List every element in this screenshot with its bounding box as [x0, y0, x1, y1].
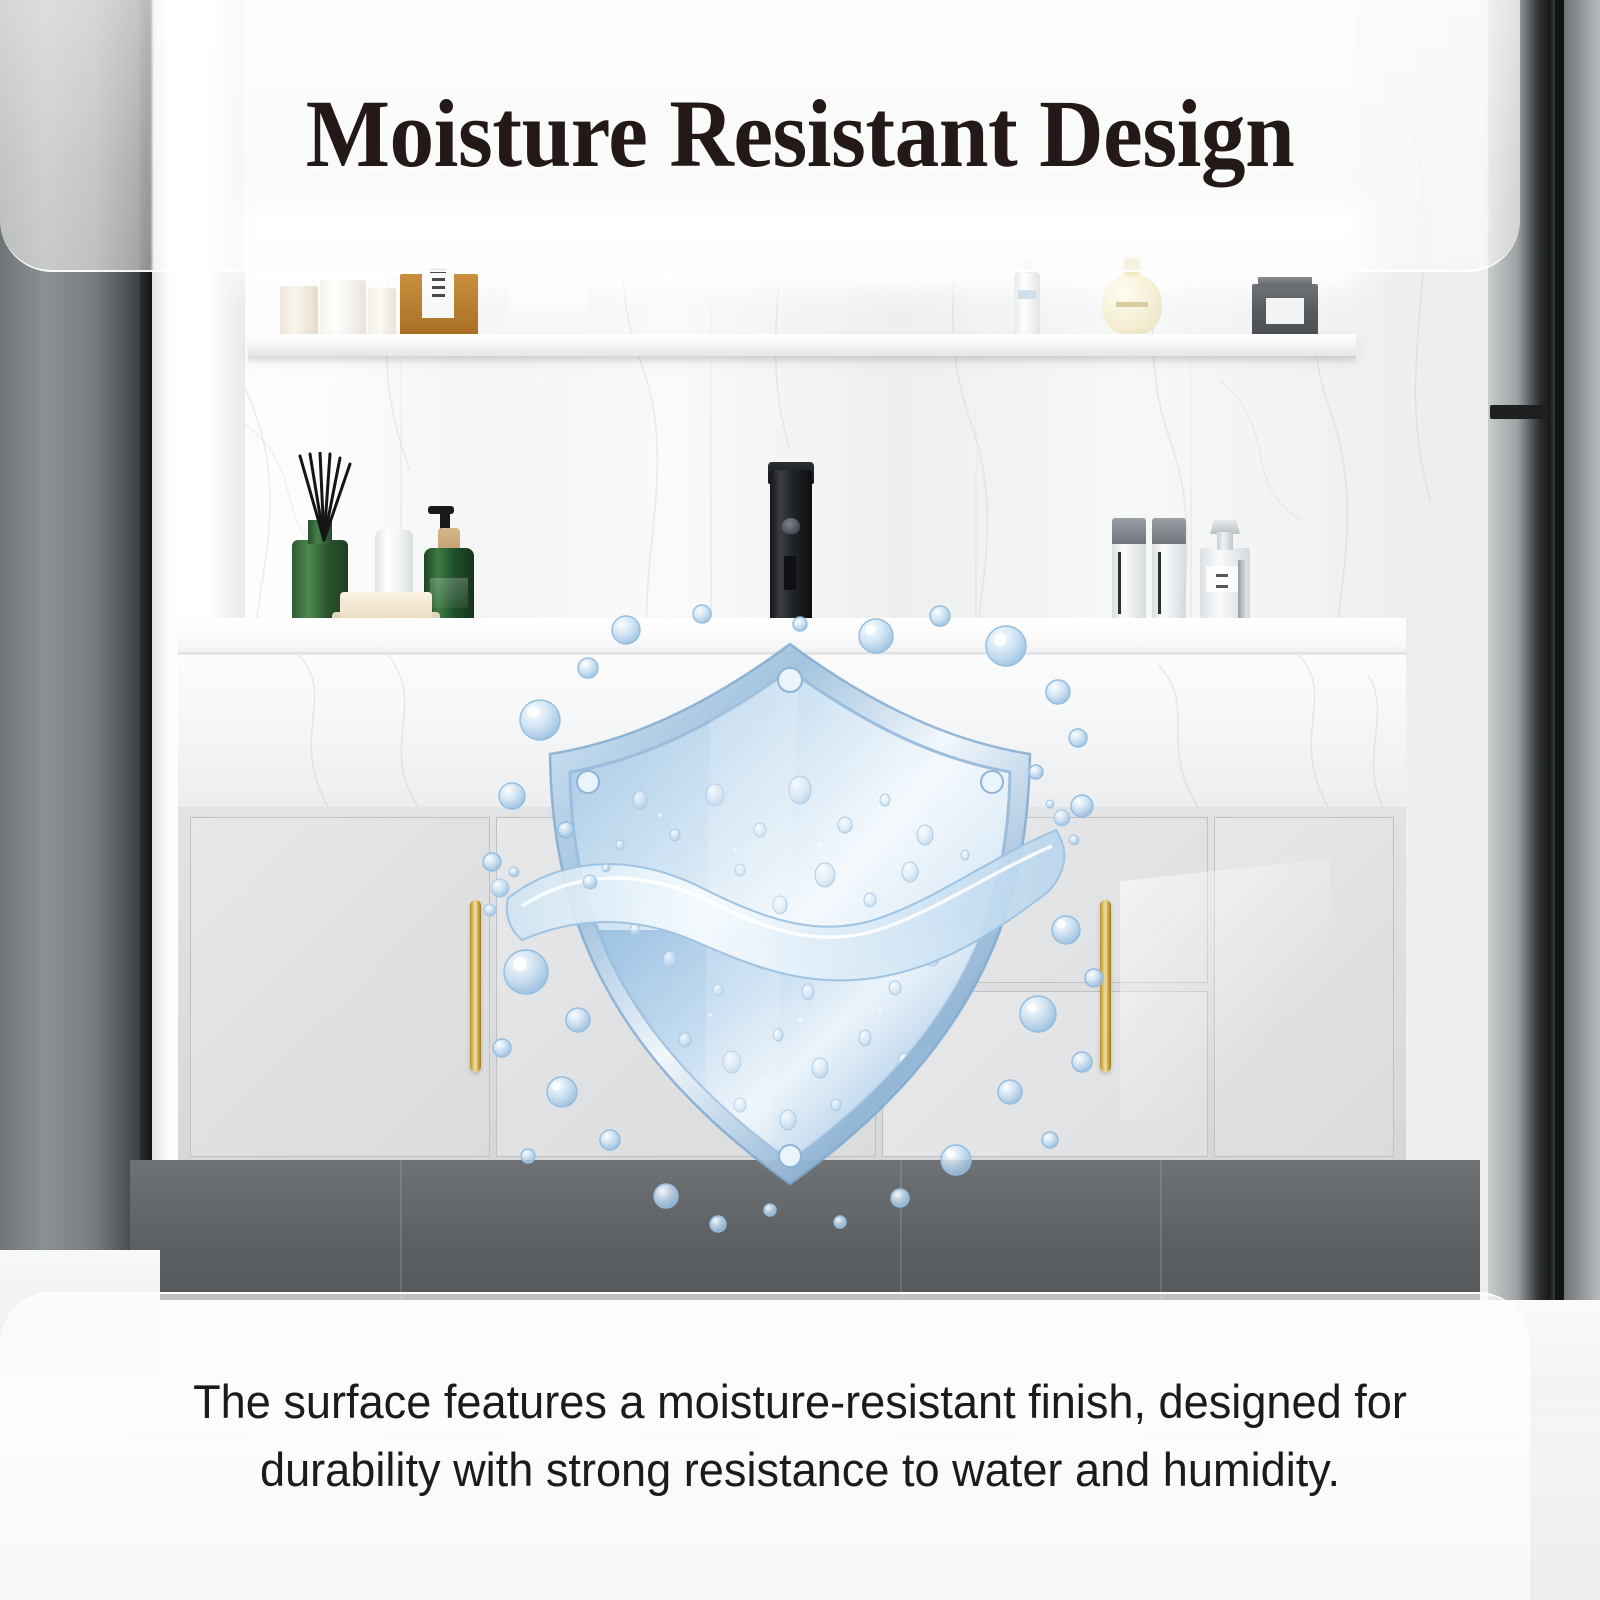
shelf-item-amber-box: [400, 274, 478, 336]
faucet-button: [782, 518, 800, 534]
dispenser-pump: [440, 506, 450, 530]
shelf-item-white-bottle: [1014, 272, 1040, 336]
shelf-items-group: [248, 262, 1356, 336]
page-title: Moisture Resistant Design: [56, 86, 1544, 182]
shelf-item-cream-jar: [368, 288, 396, 336]
dispenser-label: [430, 578, 468, 608]
shelf-shadow: [248, 356, 1356, 364]
shelf-item-round-perfume-bottle: [1102, 274, 1162, 336]
shower-door-handle: [1490, 405, 1548, 419]
shelf-item-grey-box: [1252, 284, 1318, 336]
diffuser-reeds: [286, 452, 366, 542]
shelf-item-white-box: [510, 284, 588, 336]
soap-bar: [340, 592, 432, 618]
glass-tumbler: [1152, 518, 1186, 626]
cabinet-reflection: [1120, 859, 1330, 1121]
cabinet-door-left[interactable]: [190, 817, 490, 1157]
glass-tumbler: [1112, 518, 1146, 626]
perfume-bottle: [1200, 548, 1250, 626]
water-resistant-shield-graphic: [470, 600, 1110, 1240]
shelf-item-cream-jar: [320, 280, 366, 336]
caption-line-2: durability with strong resistance to wat…: [138, 1436, 1463, 1504]
floating-shelf: [248, 334, 1356, 356]
caption-line-1: The surface features a moisture-resistan…: [138, 1368, 1463, 1436]
feature-caption: The surface features a moisture-resistan…: [138, 1368, 1463, 1504]
product-feature-image: Moisture Resistant Design The surface fe…: [0, 0, 1600, 1600]
faucet-lever: [784, 556, 796, 590]
shelf-item-cream-jar: [280, 286, 318, 336]
